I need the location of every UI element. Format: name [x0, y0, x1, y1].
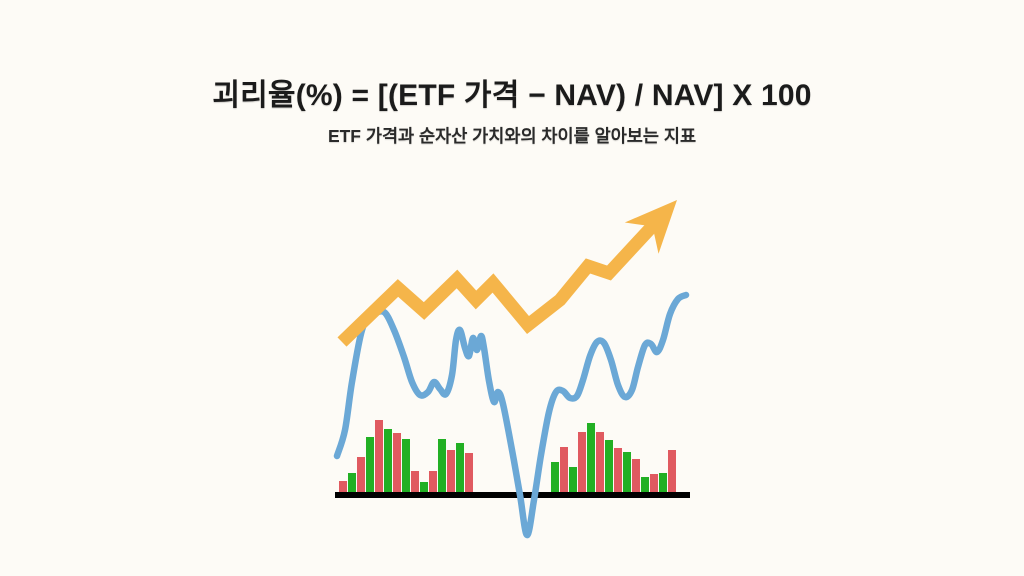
volume-bar [375, 420, 383, 495]
volume-bar [587, 423, 595, 495]
volume-bar [402, 439, 410, 495]
volume-bar [623, 452, 631, 495]
volume-bar [447, 450, 455, 495]
volume-bar [456, 443, 464, 495]
volume-bar [668, 450, 676, 495]
volume-bar [605, 440, 613, 495]
volume-bar [632, 459, 640, 495]
volume-bar [393, 433, 401, 495]
volume-bar [650, 474, 658, 495]
volume-bar [348, 473, 356, 495]
volume-bar [438, 439, 446, 495]
volume-bar [596, 432, 604, 495]
volume-bar [569, 467, 577, 495]
chart-illustration [0, 0, 1024, 576]
volume-bar [429, 471, 437, 495]
volume-bar [578, 432, 586, 495]
volume-bar [551, 462, 559, 495]
candlestick-bars-icon [551, 423, 676, 495]
volume-bar [411, 471, 419, 495]
chart-svg [0, 0, 1024, 576]
slide-canvas: 괴리율(%) = [(ETF 가격 − NAV) / NAV] X 100 ET… [0, 0, 1024, 576]
volume-bar [366, 437, 374, 495]
volume-bar [614, 448, 622, 495]
price-wave-line-icon [337, 295, 686, 535]
volume-bar [465, 453, 473, 495]
candlestick-bars-icon [339, 420, 473, 495]
volume-bar [659, 473, 667, 495]
volume-bar [560, 447, 568, 495]
volume-bar [357, 457, 365, 495]
volume-bar [384, 429, 392, 495]
